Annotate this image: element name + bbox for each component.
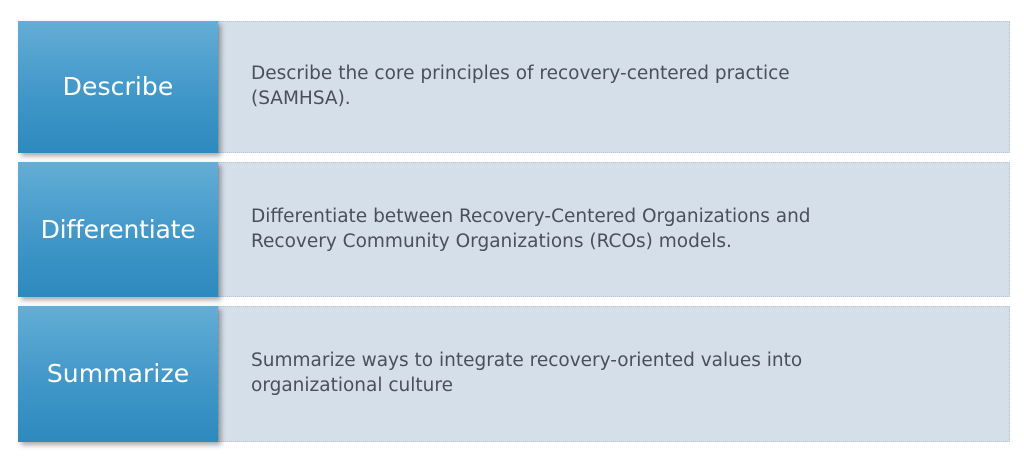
objective-label-box-differentiate[interactable]: Differentiate (18, 162, 218, 297)
objective-description: Describe the core principles of recovery… (251, 62, 891, 111)
objective-label-box-describe[interactable]: Describe (18, 21, 218, 153)
objective-label: Differentiate (41, 216, 196, 244)
objective-row: Describe the core principles of recovery… (18, 21, 1010, 153)
objective-row: Differentiate between Recovery-Centered … (18, 162, 1010, 297)
objective-description-cell: Summarize ways to integrate recovery-ori… (218, 306, 1010, 442)
slide-canvas: Describe the core principles of recovery… (0, 0, 1024, 462)
objective-row: Summarize ways to integrate recovery-ori… (18, 306, 1010, 442)
objective-description: Summarize ways to integrate recovery-ori… (251, 349, 891, 398)
objective-label: Describe (63, 73, 174, 101)
objective-label: Summarize (47, 360, 189, 388)
objective-description: Differentiate between Recovery-Centered … (251, 205, 891, 254)
objective-description-cell: Differentiate between Recovery-Centered … (218, 162, 1010, 297)
objective-label-box-summarize[interactable]: Summarize (18, 306, 218, 442)
objective-description-cell: Describe the core principles of recovery… (218, 21, 1010, 153)
